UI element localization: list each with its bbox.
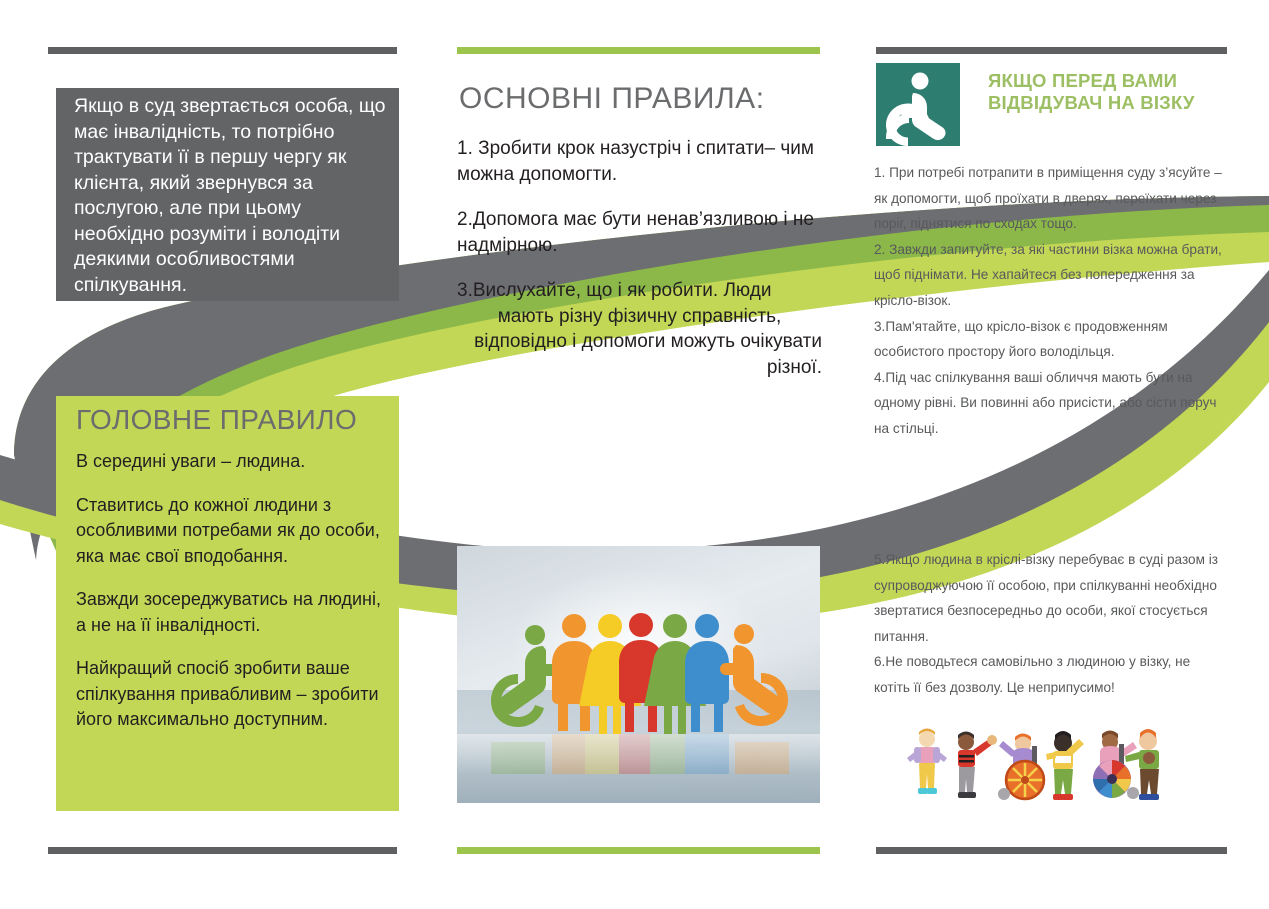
main-rule-paragraph: Найкращий спосіб зробити ваше спілкуванн… bbox=[76, 656, 386, 733]
wheelchair-rule-item: 2. Завжди запитуйте, за які частини візк… bbox=[874, 237, 1226, 314]
right-heading-line1: ЯКЩО ПЕРЕД ВАМИ bbox=[988, 70, 1228, 92]
main-rule-paragraph: Завжди зосереджуватись на людині, а не н… bbox=[76, 587, 386, 638]
brochure-page: Якщо в суд звертається особа, що має інв… bbox=[0, 0, 1269, 909]
wheelchair-figure-orange bbox=[720, 624, 788, 726]
rule-item: 1. Зробити крок назустріч і спитати– чим… bbox=[457, 136, 822, 187]
main-rule-paragraph: Ставитись до кожної людини з особливими … bbox=[76, 493, 386, 570]
wheelchair-badge bbox=[876, 63, 960, 146]
child-figure-5-wheelchair bbox=[1093, 731, 1139, 800]
wheelchair-rule-item: 4.Під час спілкування ваші обличчя мають… bbox=[874, 365, 1226, 442]
children-inclusive-illustration bbox=[903, 722, 1168, 808]
middle-column-title: ОСНОВНІ ПРАВИЛА: bbox=[459, 82, 765, 116]
rule-top-middle bbox=[457, 47, 820, 54]
rule-item-3-line1: 3.Вислухайте, що і як робити. Люди bbox=[457, 278, 822, 304]
main-rule-paragraph: В середині уваги – людина. bbox=[76, 449, 386, 475]
main-rule-body: В середині уваги – людина. Ставитись до … bbox=[76, 449, 386, 733]
rule-item-3-line4: очікувати різної. bbox=[740, 331, 822, 378]
wheelchair-rule-item: 6.Не поводьтеся самовільно з людиною у в… bbox=[874, 649, 1226, 700]
rule-top-left bbox=[48, 47, 397, 54]
rule-item-3-line2: мають різну фізичну справність, bbox=[457, 304, 822, 330]
rule-top-right bbox=[876, 47, 1227, 54]
wheelchair-icon bbox=[876, 63, 960, 146]
child-figure-4 bbox=[1046, 731, 1084, 800]
rainbow-wheel bbox=[1093, 760, 1131, 798]
rule-item: 2.Допомога має бути ненав’язливою і не н… bbox=[457, 207, 822, 258]
main-rule-panel: ГОЛОВНЕ ПРАВИЛО В середині уваги – людин… bbox=[56, 396, 399, 811]
wheelchair-rule-item: 5.Якщо людина в кріслі-візку перебуває в… bbox=[874, 547, 1226, 649]
rule-bottom-right bbox=[876, 847, 1227, 854]
rule-item-3: 3.Вислухайте, що і як робити. Люди мають… bbox=[457, 278, 822, 380]
child-figure-3-wheelchair bbox=[998, 734, 1044, 801]
wheelchair-rule-item: 1. При потребі потрапити в приміщення су… bbox=[874, 160, 1226, 237]
rule-bottom-middle bbox=[457, 847, 820, 854]
wheelchair-rules-top: 1. При потребі потрапити в приміщення су… bbox=[874, 160, 1226, 442]
wheelchair-rule-item: 3.Пам'ятайте, що крісло-візок є продовже… bbox=[874, 314, 1226, 365]
diverse-people-pictogram bbox=[457, 546, 820, 803]
intro-panel: Якщо в суд звертається особа, що має інв… bbox=[56, 88, 399, 301]
child-figure-1 bbox=[907, 729, 947, 795]
wheelchair-rules-bottom: 5.Якщо людина в кріслі-візку перебуває в… bbox=[874, 547, 1226, 701]
rule-bottom-left bbox=[48, 847, 397, 854]
right-heading-line2: ВІДВІДУВАЧ НА ВІЗКУ bbox=[988, 92, 1228, 114]
middle-column-rules: 1. Зробити крок назустріч і спитати– чим… bbox=[457, 136, 822, 380]
rule-item-3-line3: відповідно і допомоги можуть bbox=[474, 331, 735, 352]
child-figure-2 bbox=[958, 732, 997, 799]
people-figures bbox=[457, 546, 820, 803]
right-column-heading: ЯКЩО ПЕРЕД ВАМИ ВІДВІДУВАЧ НА ВІЗКУ bbox=[988, 70, 1228, 114]
main-rule-title: ГОЛОВНЕ ПРАВИЛО bbox=[76, 404, 357, 436]
wheelchair-figure-green bbox=[491, 625, 559, 727]
intro-panel-text: Якщо в суд звертається особа, що має інв… bbox=[74, 94, 388, 298]
